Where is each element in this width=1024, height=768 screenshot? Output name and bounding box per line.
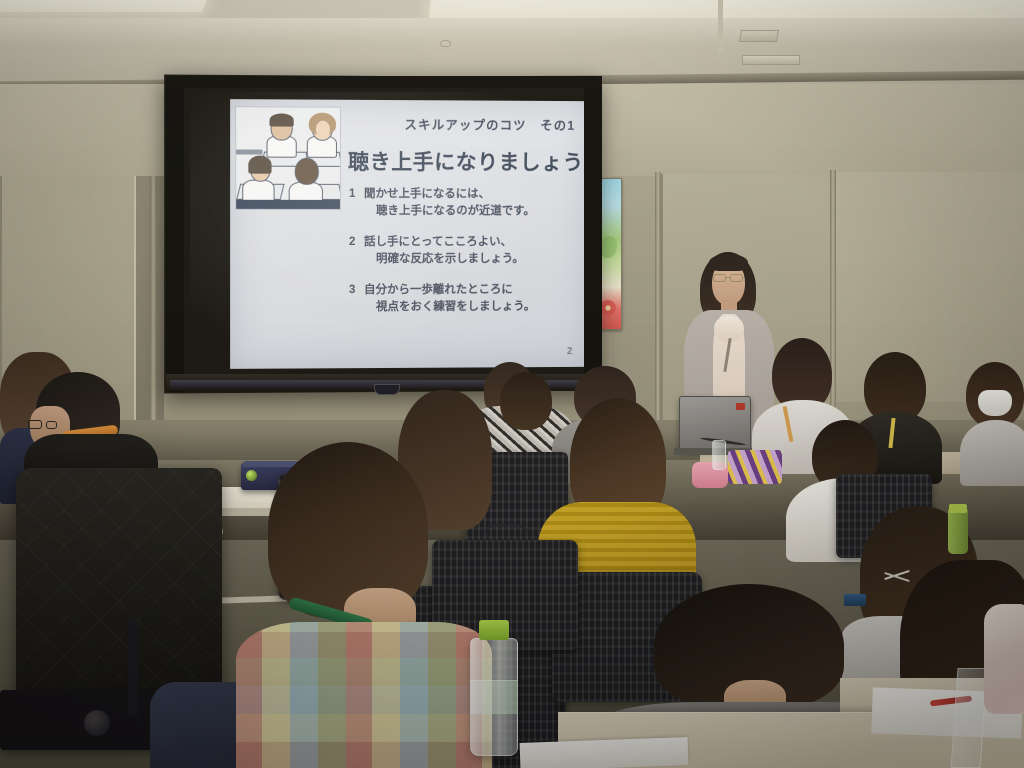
chair-left-post [128,620,138,716]
papers-handout [520,737,689,768]
poster-flower-motif [600,300,616,316]
slide-bullet-1-line2: 聴き上手になるのが近道です。 [364,205,535,217]
chair-left-caster-icon [84,710,110,736]
ceiling-vent-right-lower [742,55,800,65]
attendee-face-mask-icon [978,390,1012,416]
slide-bullet-3-line2: 視点をおく練習をしましょう。 [364,301,535,314]
screen-frame-right [584,76,602,392]
slide-body: 1 聞かせ上手になるには、 聴き上手になるのが近道です。 2 話し手にとってここ… [349,186,579,330]
slide-clipart [235,106,341,210]
slide-page-number: 2 [567,346,572,357]
clipart-person-front-left-hair [248,156,271,174]
presenter-glasses-icon [713,274,744,282]
slide-header: スキルアップのコツ その1 [404,114,575,134]
projector-mount-stem [718,0,723,52]
slide-bullet-2-line2: 明確な反応を示しましょう。 [364,253,524,265]
ceiling-light-panel-left [0,0,208,12]
screen-frame-top [166,76,602,88]
screen-pull-handle [374,384,400,395]
clipart-person-back-left-hair [270,113,294,126]
water-bottle-mid [712,440,726,470]
slide: スキルアップのコツ その1 [230,99,589,369]
slide-bullet-1-line1: 聞かせ上手になるには、 [364,188,490,200]
slide-bullet-1-number: 1 [349,186,364,221]
slide-bullet-2-number: 2 [349,234,364,269]
clipart-person-back-right-face [316,121,330,138]
slide-bullet-1-text: 聞かせ上手になるには、 聴き上手になるのが近道です。 [364,186,535,221]
clipart-person-front-centre-head [295,158,319,185]
clipart-back-desk-bar [236,149,262,154]
clipart-front-desk-bar [236,200,341,209]
ceiling-light-panel-right [429,0,1024,18]
attendee-masked [960,362,1024,482]
water-bottle-label [470,680,518,714]
attendee-man-glasses-icon [28,420,58,429]
slide-bullet-3-line1: 自分から一歩離れたところに [364,284,513,296]
scissors-icon [884,566,912,586]
slide-bullet-3-number: 3 [349,282,364,317]
projection-screen-surface: スキルアップのコツ その1 [230,99,589,369]
screen-frame-left [166,76,184,392]
projection-screen: スキルアップのコツ その1 [164,75,600,394]
green-tea-bottle-cap-icon [949,504,967,513]
slide-title: 聴き上手になりましょう [348,146,584,177]
slide-bullet-1: 1 聞かせ上手になるには、 聴き上手になるのが近道です。 [349,186,579,221]
ceiling-vent-right-upper [739,30,779,42]
attendee-masked-shoulders [960,420,1024,486]
floral-item-right [984,604,1024,714]
slide-bullet-2-line1: 話し手にとってこころよい、 [364,236,512,248]
water-bottle-cap-icon [479,620,509,640]
attendee-plaid-shirt [236,442,496,768]
presenter-fringe [709,254,748,271]
small-blue-item [844,594,866,606]
slide-bullet-3-text: 自分から一歩離れたところに 視点をおく練習をしましょう。 [364,282,535,317]
attendee-plaid-body [236,622,492,768]
ceiling-beam [0,18,1024,44]
smoke-detector-icon [440,40,451,47]
patterned-bag [728,450,782,484]
seminar-room-photograph: スキルアップのコツ その1 [0,0,1024,768]
slide-bullet-3: 3 自分から一歩離れたところに 視点をおく練習をしましょう。 [349,281,579,316]
green-tea-bottle [948,508,968,554]
slide-bullet-2-text: 話し手にとってこころよい、 明確な反応を示しましょう。 [364,234,524,269]
slide-bullet-2: 2 話し手にとってこころよい、 明確な反応を示しましょう。 [349,234,579,269]
glasses-on-table-icon [484,524,528,538]
laptop-logo-icon [736,403,745,410]
